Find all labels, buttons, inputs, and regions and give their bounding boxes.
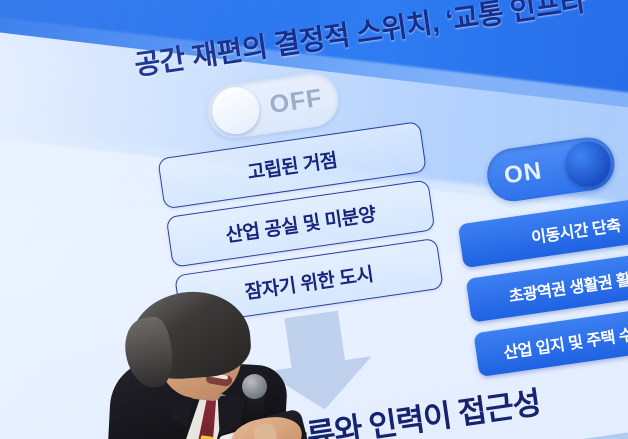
toggle-off-knob [209, 84, 262, 137]
toggle-on-label: ON [502, 157, 544, 190]
speaker-badge [199, 435, 214, 439]
speaker-person [96, 296, 326, 439]
toggle-off-label: OFF [268, 84, 325, 120]
screenshot-stage: 공간 재편의 결정적 스위치, ‘교통 인프라’ OFF ON 고립된 거점 산… [0, 0, 628, 439]
toggle-on-knob [562, 138, 613, 189]
microphone-head-icon [242, 374, 267, 399]
